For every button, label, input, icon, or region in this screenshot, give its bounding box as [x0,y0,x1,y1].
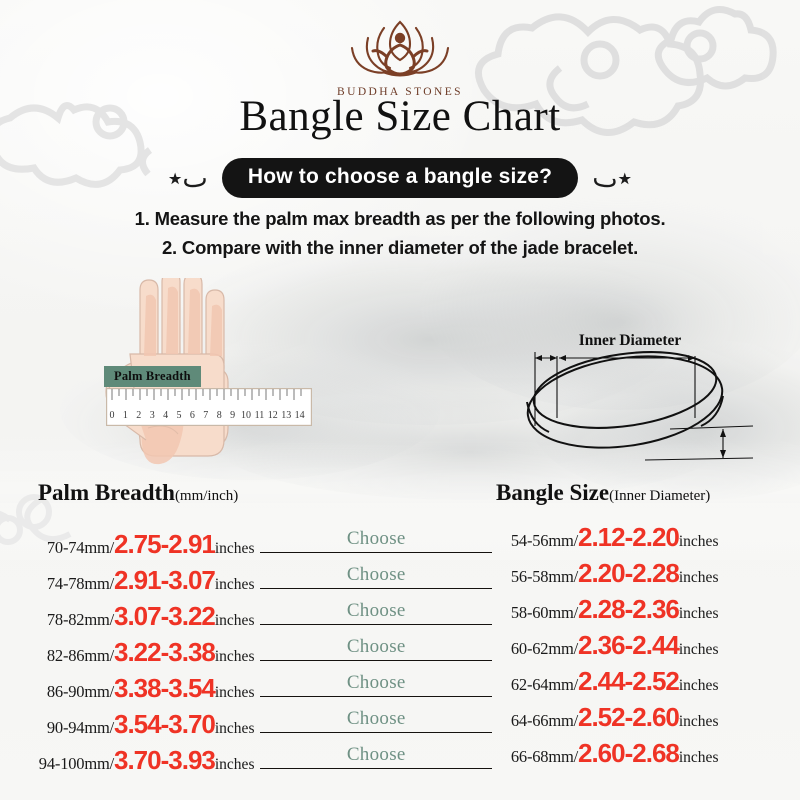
palm-breadth-heading-text: Palm Breadth [38,480,175,505]
ruler-tick-label: 5 [177,410,182,421]
table-row: 62-64mm/2.44-2.52inches [494,666,789,702]
row-inch-range: 2.60-2.68 [578,738,679,769]
ruler-tick-label: 14 [295,410,305,421]
row-inch-range: 2.91-3.07 [114,565,215,596]
ruler-tick-label: 8 [217,410,222,421]
row-unit-label: inches [215,648,255,666]
row-mm-range: 66-68mm/ [494,747,578,767]
row-inch-range: 3.38-3.54 [114,673,215,704]
instruction-steps: 1. Measure the palm max breadth as per t… [0,205,800,262]
row-unit-label: inches [679,605,719,623]
row-unit-label: inches [679,677,719,695]
ruler-tick-label: 9 [230,410,235,421]
row-unit-label: inches [679,713,719,731]
swirl-ornament-icon: ٮ٭ [592,165,632,192]
row-inch-range: 3.22-3.38 [114,637,215,668]
table-row: 56-58mm/2.20-2.28inches [494,558,789,594]
table-row[interactable]: 78-82mm/3.07-3.22inchesChoose [22,594,492,630]
row-mm-range: 70-74mm/ [22,538,114,558]
choose-label: Choose [260,564,492,586]
question-pill: How to choose a bangle size? [222,158,578,198]
hand-illustration: Palm Breadth 01234567891011121314 [100,278,330,473]
choose-field[interactable]: Choose [260,630,492,661]
row-inch-range: 2.28-2.36 [578,594,679,625]
ruler-tick-label: 2 [136,410,141,421]
ruler-tick-label: 11 [255,410,265,421]
palm-breadth-badge: Palm Breadth [104,366,201,387]
choose-label: Choose [260,528,492,550]
table-row: 64-66mm/2.52-2.60inches [494,702,789,738]
choose-label: Choose [260,636,492,658]
row-inch-range: 3.07-3.22 [114,601,215,632]
table-row[interactable]: 94-100mm/3.70-3.93inchesChoose [22,738,492,774]
row-inch-range: 2.44-2.52 [578,666,679,697]
table-row[interactable]: 86-90mm/3.38-3.54inchesChoose [22,666,492,702]
instruction-step-1: 1. Measure the palm max breadth as per t… [0,205,800,234]
size-chart-page: BUDDHA STONES Bangle Size Chart ٮ٭ How t… [0,0,800,800]
palm-breadth-table: 70-74mm/2.75-2.91inchesChoose74-78mm/2.9… [22,522,492,774]
ruler-tick-label: 12 [268,410,278,421]
ruler-tick-label: 1 [123,410,128,421]
row-mm-range: 74-78mm/ [22,574,114,594]
ruler-tick-label: 3 [150,410,155,421]
choose-label: Choose [260,744,492,766]
bangle-size-heading: Bangle Size(Inner Diameter) [496,480,710,506]
choose-field[interactable]: Choose [260,522,492,553]
row-mm-range: 94-100mm/ [22,754,114,774]
palm-breadth-heading-unit: (mm/inch) [175,488,238,504]
row-mm-range: 90-94mm/ [22,718,114,738]
bangle-ring-icon [505,330,755,470]
row-inch-range: 2.12-2.20 [578,522,679,553]
ruler-tick-label: 4 [163,410,168,421]
row-mm-range: 64-66mm/ [494,711,578,731]
row-unit-label: inches [215,684,255,702]
ruler-tick-label: 13 [281,410,291,421]
choose-label: Choose [260,600,492,622]
row-unit-label: inches [679,569,719,587]
choose-field[interactable]: Choose [260,738,492,769]
ruler-tick-label: 6 [190,410,195,421]
row-mm-range: 86-90mm/ [22,682,114,702]
table-row: 54-56mm/2.12-2.20inches [494,522,789,558]
row-unit-label: inches [215,540,255,558]
bangle-size-heading-unit: (Inner Diameter) [609,488,710,504]
choose-label: Choose [260,708,492,730]
table-row[interactable]: 74-78mm/2.91-3.07inchesChoose [22,558,492,594]
choose-field[interactable]: Choose [260,666,492,697]
row-inch-range: 2.52-2.60 [578,702,679,733]
table-row[interactable]: 70-74mm/2.75-2.91inchesChoose [22,522,492,558]
row-mm-range: 82-86mm/ [22,646,114,666]
row-unit-label: inches [679,533,719,551]
lotus-meditation-icon [340,12,460,80]
choose-field[interactable]: Choose [260,594,492,625]
table-row[interactable]: 82-86mm/3.22-3.38inchesChoose [22,630,492,666]
table-row: 60-62mm/2.36-2.44inches [494,630,789,666]
bangle-illustration [505,330,755,470]
row-unit-label: inches [215,720,255,738]
question-banner: ٮ٭ How to choose a bangle size? ٮ٭ [0,158,800,198]
row-mm-range: 62-64mm/ [494,675,578,695]
row-inch-range: 2.20-2.28 [578,558,679,589]
row-inch-range: 3.54-3.70 [114,709,215,740]
swirl-ornament-icon: ٮ٭ [168,165,208,192]
table-row: 66-68mm/2.60-2.68inches [494,738,789,774]
ruler-tick-label: 10 [241,410,251,421]
row-unit-label: inches [679,749,719,767]
row-mm-range: 58-60mm/ [494,603,578,623]
choose-label: Choose [260,672,492,694]
row-inch-range: 2.75-2.91 [114,529,215,560]
table-row: 58-60mm/2.28-2.36inches [494,594,789,630]
table-row[interactable]: 90-94mm/3.54-3.70inchesChoose [22,702,492,738]
row-unit-label: inches [215,576,255,594]
row-inch-range: 3.70-3.93 [114,745,215,776]
row-mm-range: 54-56mm/ [494,531,578,551]
ruler-tick-label: 7 [203,410,208,421]
bangle-size-heading-text: Bangle Size [496,480,609,505]
ruler-tick-label: 0 [110,410,115,421]
row-unit-label: inches [215,756,255,774]
choose-field[interactable]: Choose [260,558,492,589]
palm-breadth-heading: Palm Breadth(mm/inch) [38,480,238,506]
row-unit-label: inches [679,641,719,659]
instruction-step-2: 2. Compare with the inner diameter of th… [0,234,800,263]
ruler-icon: 01234567891011121314 [106,388,312,426]
page-title: Bangle Size Chart [0,92,800,141]
row-mm-range: 78-82mm/ [22,610,114,630]
choose-field[interactable]: Choose [260,702,492,733]
bangle-size-table: 54-56mm/2.12-2.20inches56-58mm/2.20-2.28… [494,522,789,774]
row-mm-range: 60-62mm/ [494,639,578,659]
row-unit-label: inches [215,612,255,630]
row-mm-range: 56-58mm/ [494,567,578,587]
row-inch-range: 2.36-2.44 [578,630,679,661]
brand-logo: BUDDHA STONES [0,12,800,98]
